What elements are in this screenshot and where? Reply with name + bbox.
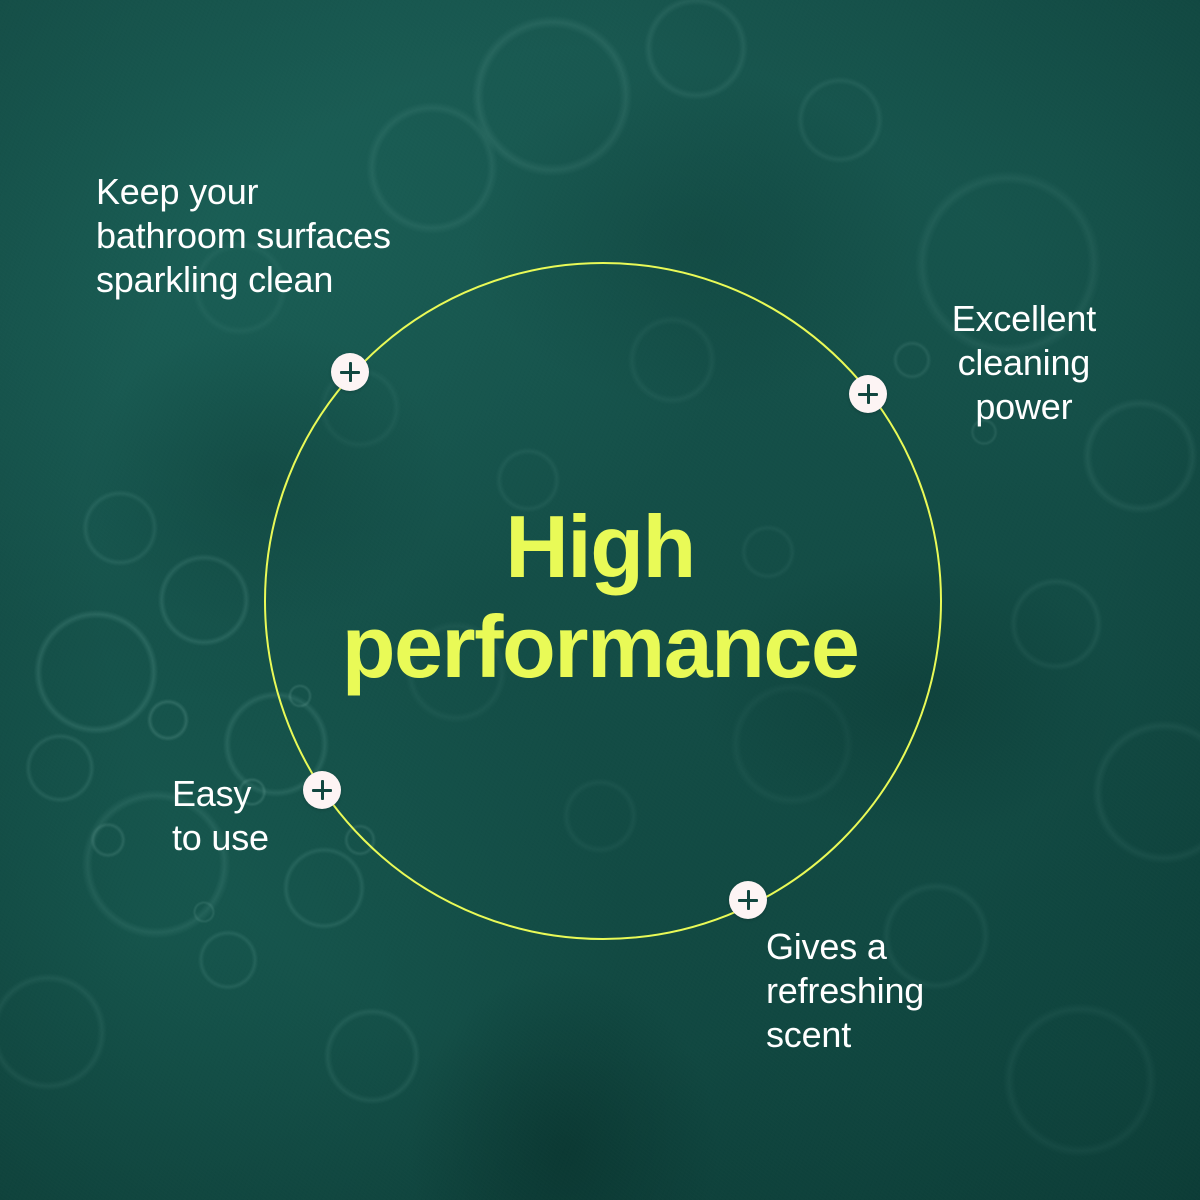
feature-label-power: Excellent cleaning power xyxy=(952,297,1096,429)
page-title: High performance xyxy=(0,497,1200,697)
plus-icon-easy[interactable] xyxy=(303,771,341,809)
product-benefits-poster: High performance Keep your bathroom surf… xyxy=(0,0,1200,1200)
plus-icon-scent[interactable] xyxy=(729,881,767,919)
feature-label-scent: Gives a refreshing scent xyxy=(766,925,924,1057)
feature-label-easy: Easy to use xyxy=(172,772,269,860)
plus-icon-surfaces[interactable] xyxy=(331,353,369,391)
plus-icon-power[interactable] xyxy=(849,375,887,413)
feature-label-surfaces: Keep your bathroom surfaces sparkling cl… xyxy=(96,170,391,302)
